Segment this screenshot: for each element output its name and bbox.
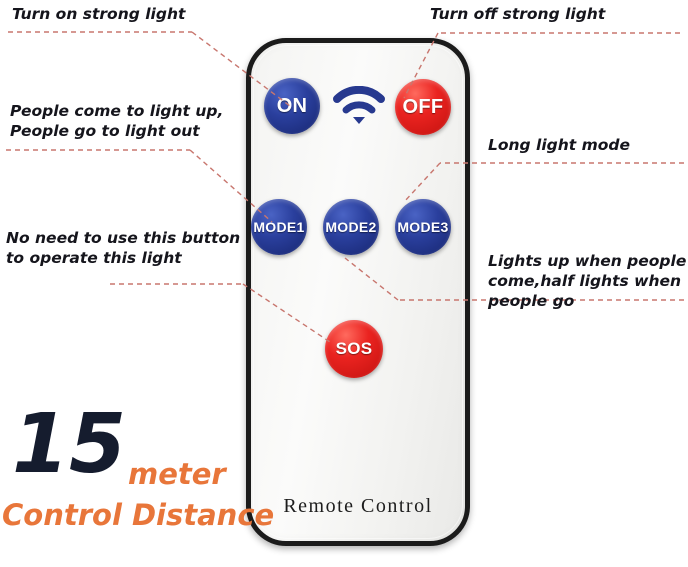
leader-halflight-d: [345, 258, 398, 300]
control-distance-block: 15 meter Control Distance: [0, 404, 250, 554]
leader-longmode-d: [404, 163, 440, 202]
callout-long-light-mode: Long light mode: [488, 135, 630, 155]
leader-noneed-d: [243, 284, 330, 342]
callout-no-need-button: No need to use this button to operate th…: [6, 228, 240, 268]
callout-turn-on-strong-light: Turn on strong light: [12, 4, 185, 24]
callout-turn-off-strong-light: Turn off strong light: [430, 4, 605, 24]
leader-turn-on-d: [192, 32, 290, 106]
distance-caption: Control Distance: [2, 499, 274, 531]
distance-number: 15: [12, 404, 126, 486]
leader-turn-off-d: [404, 33, 438, 98]
callout-half-lights: Lights up when people come,half lights w…: [488, 251, 686, 311]
distance-unit: meter: [128, 460, 226, 489]
diagram-canvas: ON OFF MODE1 MODE2 MODE3 SOS Remote Cont…: [0, 0, 688, 567]
callout-people-come-go: People come to light up, People go to li…: [10, 101, 223, 141]
leader-people-d: [190, 150, 272, 222]
